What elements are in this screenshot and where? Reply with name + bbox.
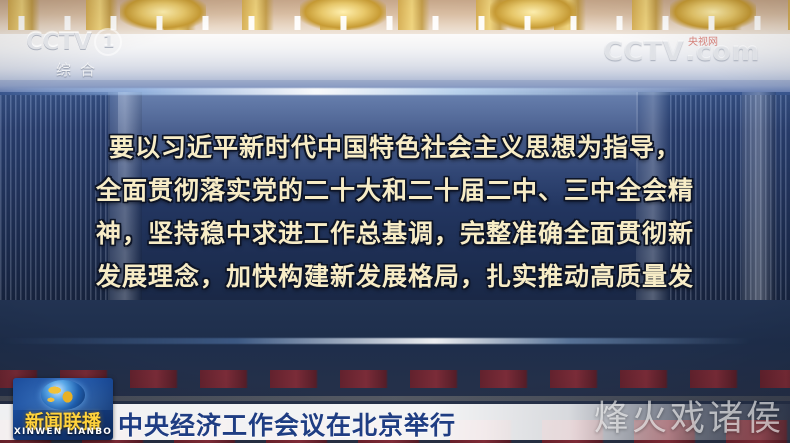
broadcast-screenshot: CCTV 1 综合 央视网 CCTV .com 要以习近平新时代中国特色社会主义… bbox=[0, 0, 790, 443]
subtitle-block: 要以习近平新时代中国特色社会主义思想为指导， 全面贯彻落实党的二十大和二十届二中… bbox=[0, 126, 790, 298]
subtitle-line: 全面贯彻落实党的二十大和二十届二中、三中全会精 bbox=[0, 169, 790, 212]
site-watermark-main: CCTV bbox=[603, 36, 684, 67]
subtitle-line: 发展理念，加快构建新发展格局，扎实推动高质量发 bbox=[0, 255, 790, 298]
channel-sub-label: 综合 bbox=[26, 59, 134, 80]
program-logo-en: XINWEN LIANBO bbox=[13, 427, 113, 437]
user-watermark: 烽火戏诸侯 bbox=[594, 390, 784, 441]
headline-text: 中央经济工作会议在北京举行 bbox=[118, 406, 456, 442]
site-watermark-text: CCTV .com bbox=[603, 36, 760, 67]
channel-logo: CCTV 1 综合 bbox=[26, 28, 146, 78]
cctv-wordmark: CCTV 1 bbox=[26, 28, 146, 56]
cctv-letters: CCTV bbox=[26, 29, 91, 55]
globe-landmass-icon bbox=[44, 383, 82, 407]
channel-number: 1 bbox=[94, 28, 122, 56]
site-watermark: 央视网 CCTV .com bbox=[603, 36, 760, 67]
subtitle-line: 神，坚持稳中求进工作总基调，完整准确全面贯彻新 bbox=[0, 212, 790, 255]
program-logo: 新闻联播 XINWEN LIANBO bbox=[13, 378, 113, 440]
site-watermark-cn-label: 央视网 bbox=[688, 33, 718, 48]
subtitle-line: 要以习近平新时代中国特色社会主义思想为指导， bbox=[0, 126, 790, 169]
